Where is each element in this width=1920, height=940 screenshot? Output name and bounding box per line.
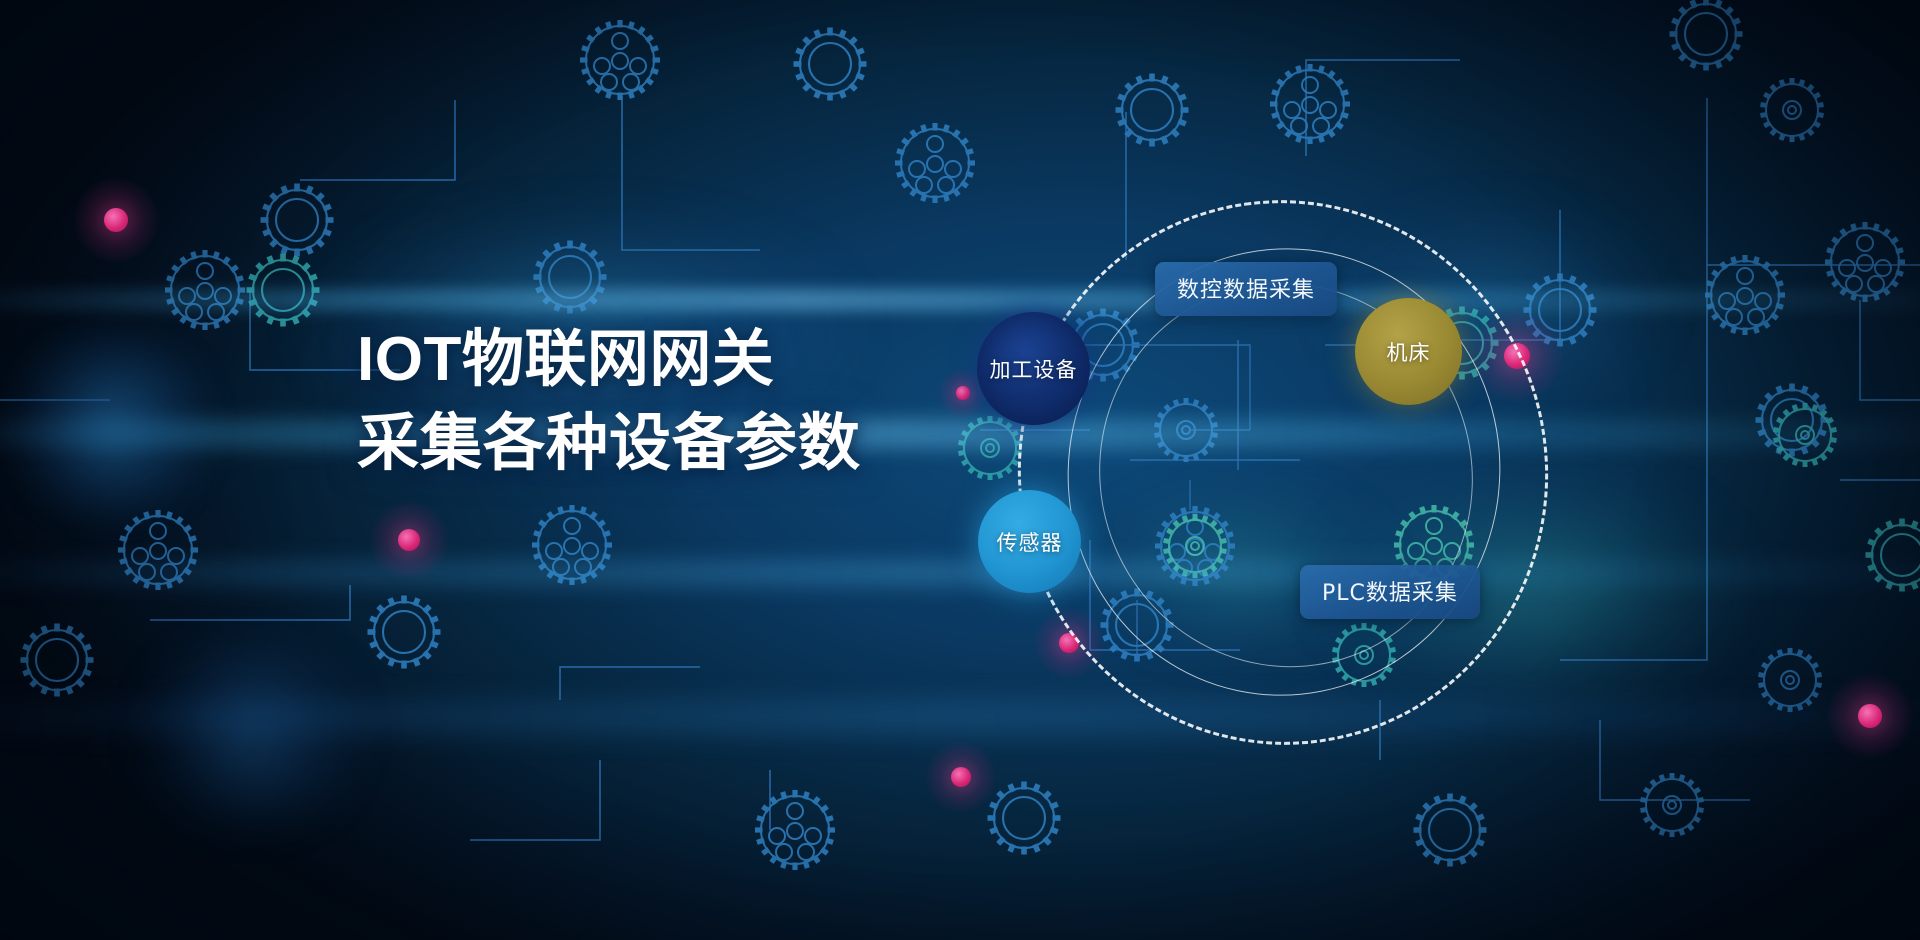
page-title-line-2: 采集各种设备参数 <box>357 402 861 486</box>
accent-dot <box>951 767 971 787</box>
pill-cnc-data-collection[interactable]: 数控数据采集 <box>1155 262 1337 316</box>
pill-plc-label: PLC数据采集 <box>1322 581 1458 606</box>
node-machining-equipment-label: 加工设备 <box>990 354 1078 384</box>
page-title-line-1: IOT物联网网关 <box>357 318 861 402</box>
accent-dot <box>398 529 420 551</box>
node-machine-tool[interactable]: 机床 <box>1355 298 1462 405</box>
pill-plc-data-collection[interactable]: PLC数据采集 <box>1300 565 1480 619</box>
iot-orbit-diagram: 加工设备 机床 传感器 数控数据采集 PLC数据采集 <box>1000 190 1560 750</box>
node-machine-tool-label: 机床 <box>1387 337 1431 367</box>
node-sensor-label: 传感器 <box>997 527 1063 557</box>
accent-dot <box>104 208 128 232</box>
node-sensor[interactable]: 传感器 <box>978 490 1081 593</box>
accent-dot <box>956 386 970 400</box>
page-title: IOT物联网网关 采集各种设备参数 <box>357 318 861 485</box>
pill-cnc-label: 数控数据采集 <box>1177 278 1315 303</box>
node-machining-equipment[interactable]: 加工设备 <box>977 312 1090 425</box>
accent-dot <box>1858 704 1882 728</box>
hero-banner: IOT物联网网关 采集各种设备参数 加工设备 机床 传感器 数控数据采集 PLC… <box>0 0 1920 940</box>
